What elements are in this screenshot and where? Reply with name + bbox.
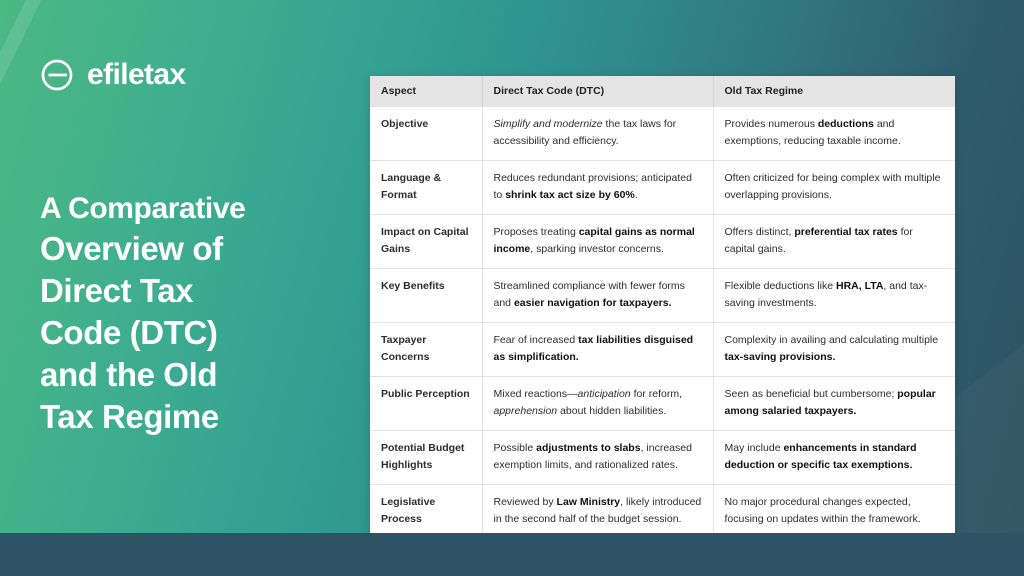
brand-logo: efiletax [40, 58, 186, 92]
cell-dtc: Simplify and modernize the tax laws for … [482, 107, 713, 161]
table-header-row: Aspect Direct Tax Code (DTC) Old Tax Reg… [370, 76, 955, 107]
title-line-4: Code (DTC) [40, 312, 350, 354]
cell-aspect: Public Perception [370, 377, 482, 431]
cell-old-regime: Offers distinct, preferential tax rates … [713, 215, 955, 269]
cell-old-regime: Flexible deductions like HRA, LTA, and t… [713, 269, 955, 323]
cell-old-regime: Seen as beneficial but cumbersome; popul… [713, 377, 955, 431]
cell-dtc: Fear of increased tax liabilities disgui… [482, 323, 713, 377]
table-header: Aspect Direct Tax Code (DTC) Old Tax Reg… [370, 76, 955, 107]
table-row: Public PerceptionMixed reactions—anticip… [370, 377, 955, 431]
page-title: A Comparative Overview of Direct Tax Cod… [40, 186, 350, 438]
title-line-5: and the Old [40, 354, 350, 396]
title-line-3: Direct Tax [40, 270, 350, 312]
brand-name: efiletax [87, 60, 186, 90]
cell-old-regime: Complexity in availing and calculating m… [713, 323, 955, 377]
column-header-old-regime: Old Tax Regime [713, 76, 955, 107]
cell-aspect: Language & Format [370, 161, 482, 215]
cell-dtc: Possible adjustments to slabs, increased… [482, 431, 713, 485]
cell-aspect: Potential Budget Highlights [370, 431, 482, 485]
table-row: Legislative ProcessReviewed by Law Minis… [370, 485, 955, 539]
table-row: Taxpayer ConcernsFear of increased tax l… [370, 323, 955, 377]
cell-dtc: Streamlined compliance with fewer forms … [482, 269, 713, 323]
cell-dtc: Proposes treating capital gains as norma… [482, 215, 713, 269]
title-line-6: Tax Regime [40, 396, 350, 438]
cell-aspect: Legislative Process [370, 485, 482, 539]
cell-aspect: Taxpayer Concerns [370, 323, 482, 377]
title-line-1: A Comparative [40, 186, 350, 228]
cell-dtc: Reduces redundant provisions; anticipate… [482, 161, 713, 215]
title-line-2: Overview of [40, 228, 350, 270]
e-circle-logo-icon [40, 58, 74, 92]
cell-aspect: Key Benefits [370, 269, 482, 323]
table-row: ObjectiveSimplify and modernize the tax … [370, 107, 955, 161]
table-row: Language & FormatReduces redundant provi… [370, 161, 955, 215]
comparison-table: Aspect Direct Tax Code (DTC) Old Tax Reg… [370, 76, 955, 538]
cell-old-regime: Provides numerous deductions and exempti… [713, 107, 955, 161]
table-body: ObjectiveSimplify and modernize the tax … [370, 107, 955, 539]
column-header-aspect: Aspect [370, 76, 482, 107]
footer-bar [0, 533, 1024, 576]
slide-canvas: efiletax A Comparative Overview of Direc… [0, 0, 1024, 576]
cell-dtc: Reviewed by Law Ministry, likely introdu… [482, 485, 713, 539]
table-row: Potential Budget HighlightsPossible adju… [370, 431, 955, 485]
cell-dtc: Mixed reactions—anticipation for reform,… [482, 377, 713, 431]
cell-aspect: Impact on Capital Gains [370, 215, 482, 269]
table-row: Key BenefitsStreamlined compliance with … [370, 269, 955, 323]
column-header-dtc: Direct Tax Code (DTC) [482, 76, 713, 107]
comparison-table-card: Aspect Direct Tax Code (DTC) Old Tax Reg… [370, 76, 955, 538]
cell-aspect: Objective [370, 107, 482, 161]
table-row: Impact on Capital GainsProposes treating… [370, 215, 955, 269]
cell-old-regime: May include enhancements in standard ded… [713, 431, 955, 485]
cell-old-regime: No major procedural changes expected, fo… [713, 485, 955, 539]
cell-old-regime: Often criticized for being complex with … [713, 161, 955, 215]
